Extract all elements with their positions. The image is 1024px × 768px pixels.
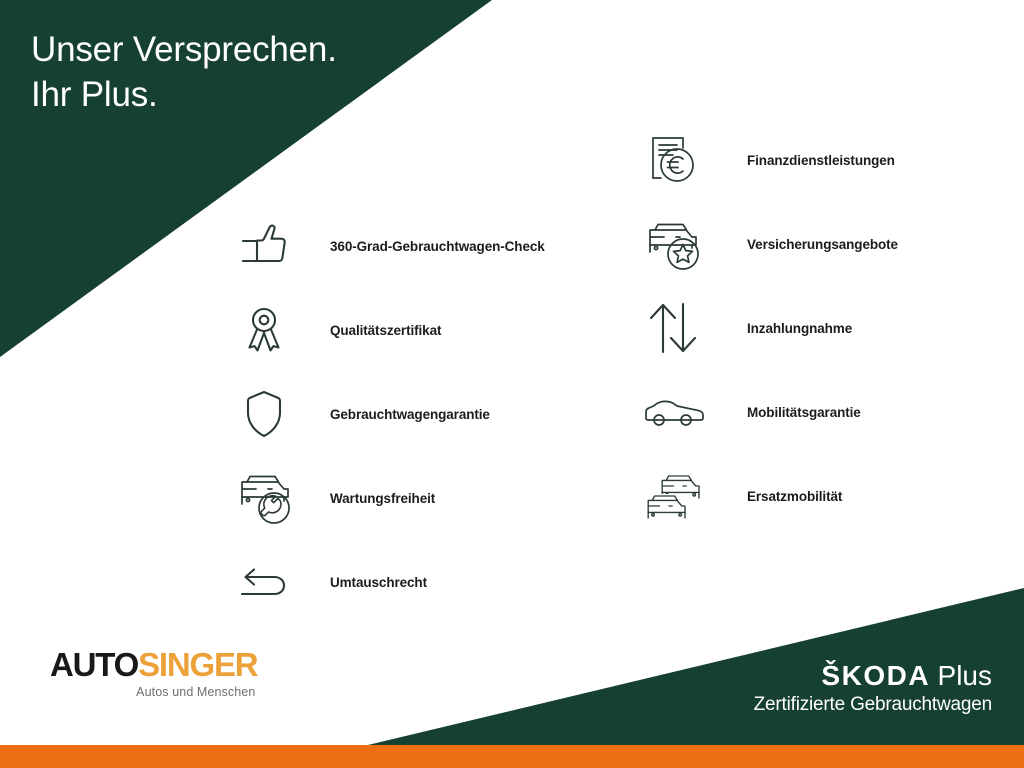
skoda-subtitle: Zertifizierte Gebrauchtwagen — [754, 693, 992, 717]
feature-label: Finanzdienstleistungen — [747, 153, 895, 168]
feature-label: Ersatzmobilität — [747, 489, 842, 504]
feature-label: Gebrauchtwagengarantie — [330, 407, 490, 422]
dealer-tagline: Autos und Menschen — [50, 685, 257, 699]
two-cars-icon — [645, 460, 717, 532]
document-euro-icon — [645, 124, 717, 196]
skoda-brand-line: ŠKODA Plus — [754, 660, 992, 692]
skoda-brand-name: ŠKODA — [821, 660, 930, 691]
feature-item-warranty: Gebrauchtwagengarantie — [236, 374, 545, 454]
feature-label: Inzahlungnahme — [747, 321, 852, 336]
thumbs-up-icon — [236, 210, 308, 282]
feature-label: 360-Grad-Gebrauchtwagen-Check — [330, 239, 545, 254]
car-star-icon — [645, 208, 717, 280]
feature-label: Umtauschrecht — [330, 575, 427, 590]
feature-label: Wartungsfreiheit — [330, 491, 435, 506]
dealer-wordmark-auto: AUTO — [50, 646, 138, 683]
car-wrench-icon — [236, 462, 308, 534]
side-car-icon — [645, 376, 717, 448]
feature-item-replacement-mobility: Ersatzmobilität — [645, 456, 898, 536]
feature-item-maintenance-free: Wartungsfreiheit — [236, 458, 545, 538]
feature-item-trade-in: Inzahlungnahme — [645, 288, 898, 368]
feature-item-quality-certificate: Qualitätszertifikat — [236, 290, 545, 370]
feature-item-mobility-guarantee: Mobilitätsgarantie — [645, 372, 898, 452]
up-down-arrows-icon — [645, 292, 717, 364]
feature-item-financial-services: Finanzdienstleistungen — [645, 120, 898, 200]
dealer-wordmark: AUTOSINGER — [50, 648, 257, 682]
dealer-logo[interactable]: AUTOSINGER Autos und Menschen — [50, 648, 257, 699]
award-rosette-icon — [236, 294, 308, 366]
orange-accent-bar — [0, 745, 1024, 768]
feature-item-insurance-offers: Versicherungsangebote — [645, 204, 898, 284]
dealer-wordmark-singer: SINGER — [138, 646, 257, 683]
feature-item-360-check: 360-Grad-Gebrauchtwagen-Check — [236, 206, 545, 286]
feature-label: Versicherungsangebote — [747, 237, 898, 252]
shield-icon — [236, 378, 308, 450]
feature-label: Qualitätszertifikat — [330, 323, 441, 338]
return-arrow-icon — [236, 546, 308, 618]
feature-list-right: Finanzdienstleistungen Versicherungsange… — [645, 120, 898, 540]
skoda-brand-suffix: Plus — [938, 660, 992, 691]
feature-list-left: 360-Grad-Gebrauchtwagen-Check Qualitätsz… — [236, 206, 545, 626]
promo-banner: Unser Versprechen. Ihr Plus. 360-Grad-Ge… — [0, 0, 1024, 768]
skoda-plus-logo[interactable]: ŠKODA Plus Zertifizierte Gebrauchtwagen — [754, 660, 992, 717]
feature-label: Mobilitätsgarantie — [747, 405, 861, 420]
feature-item-exchange-right: Umtauschrecht — [236, 542, 545, 622]
page-title: Unser Versprechen. Ihr Plus. — [31, 27, 337, 117]
